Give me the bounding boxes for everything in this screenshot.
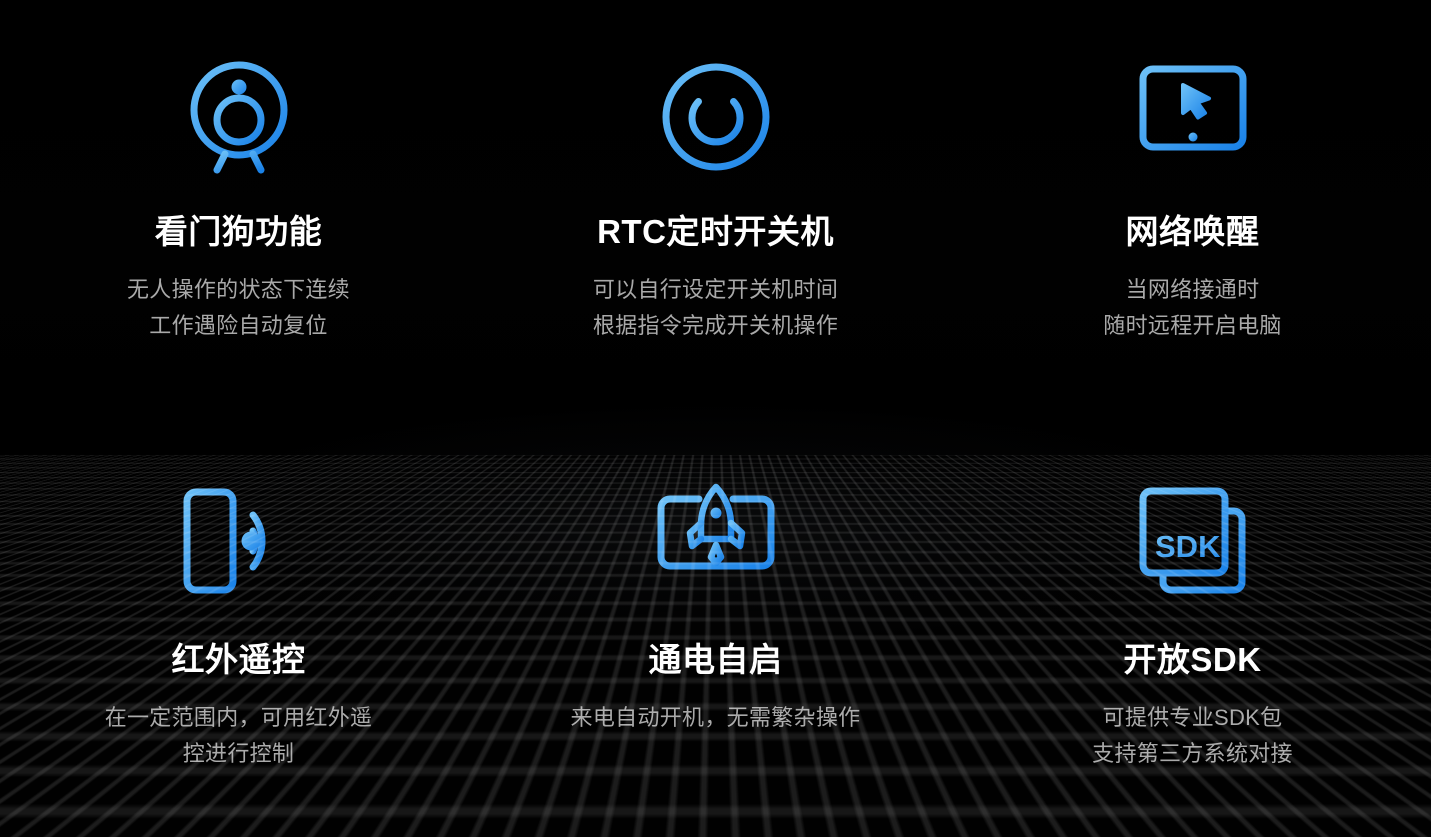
- power-button-icon: [660, 58, 772, 176]
- feature-card-ir-remote[interactable]: 红外遥控 在一定范围内，可用红外遥 控进行控制: [0, 420, 477, 837]
- feature-description-line: 控进行控制: [105, 736, 373, 772]
- feature-description: 在一定范围内，可用红外遥 控进行控制: [105, 700, 373, 773]
- webcam-watchdog-icon: [181, 58, 297, 176]
- feature-description-line: 根据指令完成开关机操作: [593, 308, 838, 344]
- feature-description: 无人操作的状态下连续 工作遇险自动复位: [127, 272, 350, 345]
- feature-title: RTC定时开关机: [597, 212, 834, 252]
- feature-grid: 看门狗功能 无人操作的状态下连续 工作遇险自动复位 RTC定时开关机 可以自行设: [0, 0, 1431, 837]
- feature-description: 可以自行设定开关机时间 根据指令完成开关机操作: [593, 272, 838, 345]
- feature-showcase-page: 看门狗功能 无人操作的状态下连续 工作遇险自动复位 RTC定时开关机 可以自行设: [0, 0, 1431, 837]
- feature-title: 红外遥控: [172, 640, 306, 680]
- feature-title: 开放SDK: [1123, 640, 1261, 680]
- feature-card-wake-on-lan[interactable]: 网络唤醒 当网络接通时 随时远程开启电脑: [954, 0, 1431, 420]
- feature-card-watchdog[interactable]: 看门狗功能 无人操作的状态下连续 工作遇险自动复位: [0, 0, 477, 420]
- feature-card-rtc-timer[interactable]: RTC定时开关机 可以自行设定开关机时间 根据指令完成开关机操作: [477, 0, 954, 420]
- feature-description-line: 来电自动开机，无需繁杂操作: [571, 700, 861, 736]
- feature-description-line: 工作遇险自动复位: [127, 308, 350, 344]
- monitor-rocket-icon: [653, 482, 779, 600]
- sdk-icon-label: SDK.: [1155, 529, 1229, 564]
- feature-description: 来电自动开机，无需繁杂操作: [571, 700, 861, 736]
- feature-description: 当网络接通时 随时远程开启电脑: [1103, 272, 1281, 345]
- sdk-windows-icon: SDK.: [1137, 482, 1249, 600]
- feature-title: 网络唤醒: [1126, 212, 1260, 252]
- feature-card-open-sdk[interactable]: SDK. 开放SDK 可提供专业SDK包 支持第三方系统对接: [954, 420, 1431, 837]
- feature-description-line: 在一定范围内，可用红外遥: [105, 700, 373, 736]
- feature-description-line: 当网络接通时: [1103, 272, 1281, 308]
- feature-description-line: 随时远程开启电脑: [1103, 308, 1281, 344]
- feature-description: 可提供专业SDK包 支持第三方系统对接: [1092, 700, 1293, 773]
- feature-description-line: 无人操作的状态下连续: [127, 272, 350, 308]
- feature-card-auto-power-on[interactable]: 通电自启 来电自动开机，无需繁杂操作: [477, 420, 954, 837]
- monitor-cursor-icon: [1137, 58, 1249, 176]
- feature-title: 看门狗功能: [155, 212, 323, 252]
- feature-description-line: 可提供专业SDK包: [1092, 700, 1293, 736]
- feature-title: 通电自启: [649, 640, 783, 680]
- feature-description-line: 可以自行设定开关机时间: [593, 272, 838, 308]
- feature-description-line: 支持第三方系统对接: [1092, 736, 1293, 772]
- ir-remote-signal-icon: [181, 482, 297, 600]
